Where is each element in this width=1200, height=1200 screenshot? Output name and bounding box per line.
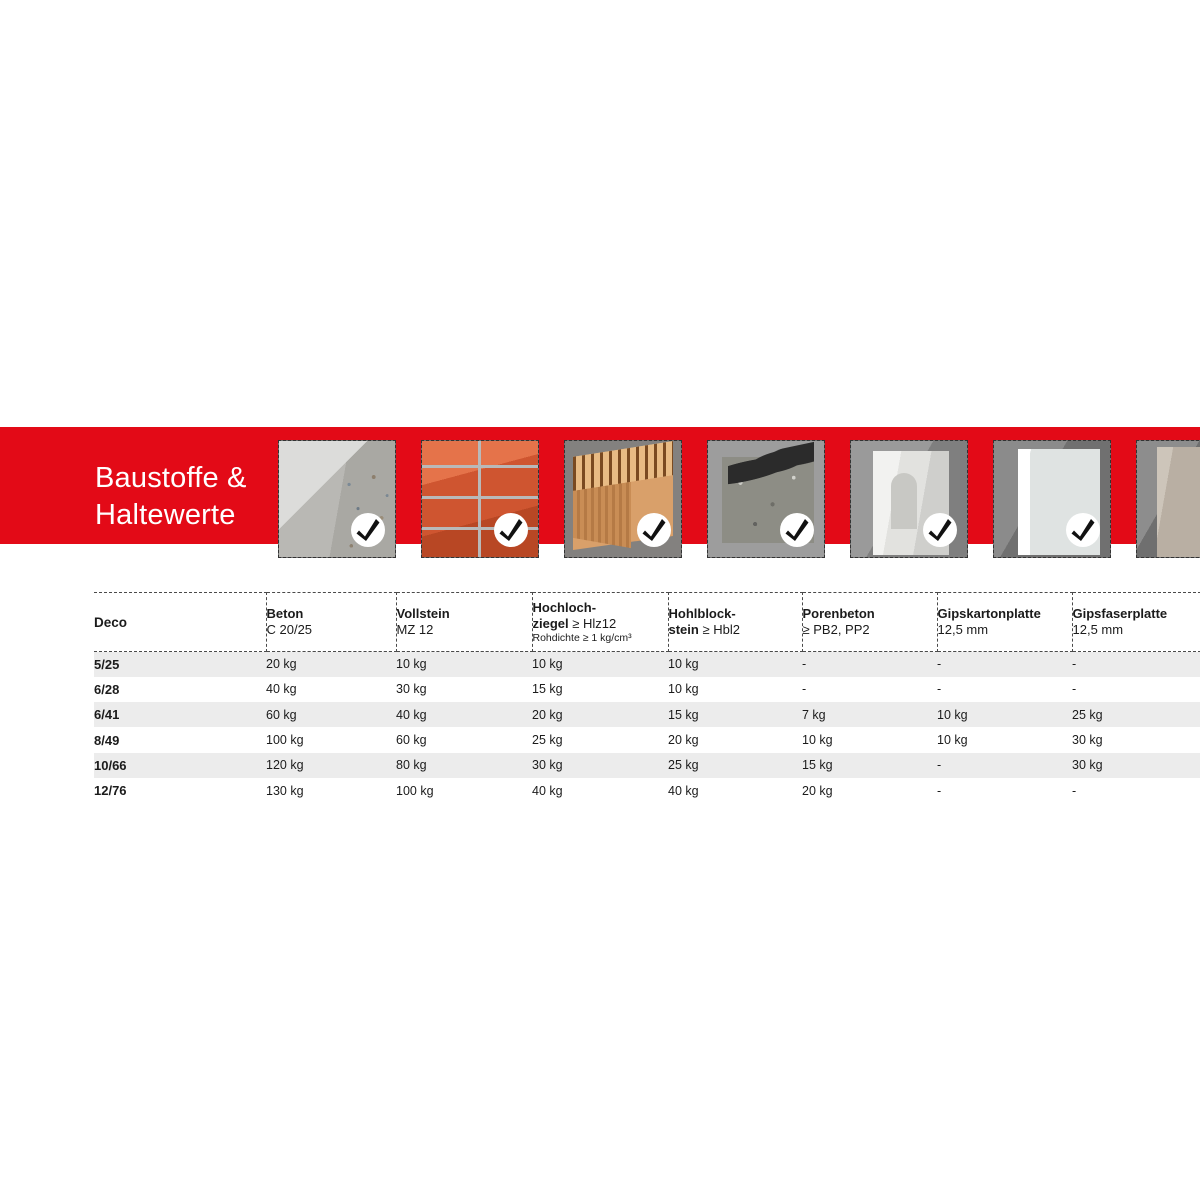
cell-porenbeton: - bbox=[802, 677, 937, 702]
header-main: Beton bbox=[267, 606, 396, 622]
cell-hbl: 10 kg bbox=[668, 652, 802, 677]
table-header-row: Deco Beton C 20/25 Vollstein MZ 12 Hochl… bbox=[94, 593, 1200, 652]
cell-beton: 20 kg bbox=[266, 652, 396, 677]
header-main: Porenbeton bbox=[803, 606, 937, 622]
column-header-beton: Beton C 20/25 bbox=[266, 593, 396, 652]
cell-gf: 30 kg bbox=[1072, 753, 1200, 778]
column-header-deco: Deco bbox=[94, 593, 266, 652]
cell-hbl: 20 kg bbox=[668, 727, 802, 752]
cell-hbl: 40 kg bbox=[668, 778, 802, 803]
cell-hbl: 10 kg bbox=[668, 677, 802, 702]
material-thumb-porenbeton bbox=[850, 440, 968, 558]
header-main: Gipsfaserplatte bbox=[1073, 606, 1200, 622]
column-header-gipsfaserplatte: Gipsfaserplatte 12,5 mm bbox=[1072, 593, 1200, 652]
header-main: Vollstein bbox=[397, 606, 532, 622]
cell-porenbeton: - bbox=[802, 652, 937, 677]
header-sub: 12,5 mm bbox=[1073, 622, 1200, 638]
cell-hbl: 25 kg bbox=[668, 753, 802, 778]
header-sub: 12,5 mm bbox=[938, 622, 1072, 638]
material-thumb-vollstein bbox=[421, 440, 539, 558]
cell-gk: 10 kg bbox=[937, 702, 1072, 727]
header-main-line2: ziegel ≥ Hlz12 bbox=[533, 616, 668, 632]
header-sub: C 20/25 bbox=[267, 622, 396, 638]
cell-vollstein: 30 kg bbox=[396, 677, 532, 702]
cell-hlz: 20 kg bbox=[532, 702, 668, 727]
cell-gk: - bbox=[937, 652, 1072, 677]
cell-gf: 30 kg bbox=[1072, 727, 1200, 752]
cell-deco-size: 6/28 bbox=[94, 677, 266, 702]
cell-beton: 100 kg bbox=[266, 727, 396, 752]
table-body: 5/2520 kg10 kg10 kg10 kg---6/2840 kg30 k… bbox=[94, 652, 1200, 804]
cell-vollstein: 100 kg bbox=[396, 778, 532, 803]
table-row: 10/66120 kg80 kg30 kg25 kg15 kg-30 kg bbox=[94, 753, 1200, 778]
cell-gk: - bbox=[937, 677, 1072, 702]
cell-gk: - bbox=[937, 753, 1072, 778]
cell-deco-size: 5/25 bbox=[94, 652, 266, 677]
table-row: 6/2840 kg30 kg15 kg10 kg--- bbox=[94, 677, 1200, 702]
cell-deco-size: 10/66 bbox=[94, 753, 266, 778]
header-main: Hohlblock- bbox=[669, 606, 802, 622]
cell-gf: - bbox=[1072, 778, 1200, 803]
header-note: Rohdichte ≥ 1 kg/cm³ bbox=[533, 632, 668, 645]
cell-vollstein: 40 kg bbox=[396, 702, 532, 727]
check-icon bbox=[494, 513, 528, 547]
cell-deco-size: 8/49 bbox=[94, 727, 266, 752]
check-icon bbox=[780, 513, 814, 547]
header-sub: MZ 12 bbox=[397, 622, 532, 638]
check-icon bbox=[923, 513, 957, 547]
cell-vollstein: 10 kg bbox=[396, 652, 532, 677]
haltewerte-table: Deco Beton C 20/25 Vollstein MZ 12 Hochl… bbox=[94, 592, 1200, 803]
column-header-vollstein: Vollstein MZ 12 bbox=[396, 593, 532, 652]
header-main: Hochloch- bbox=[533, 600, 668, 616]
cell-gk: 10 kg bbox=[937, 727, 1072, 752]
cell-porenbeton: 10 kg bbox=[802, 727, 937, 752]
cell-vollstein: 80 kg bbox=[396, 753, 532, 778]
cell-beton: 40 kg bbox=[266, 677, 396, 702]
cell-vollstein: 60 kg bbox=[396, 727, 532, 752]
check-icon bbox=[351, 513, 385, 547]
material-thumb-gipskartonplatte bbox=[993, 440, 1111, 558]
cell-hlz: 40 kg bbox=[532, 778, 668, 803]
table-row: 8/49100 kg60 kg25 kg20 kg10 kg10 kg30 kg bbox=[94, 727, 1200, 752]
cell-beton: 130 kg bbox=[266, 778, 396, 803]
cell-deco-size: 6/41 bbox=[94, 702, 266, 727]
cell-deco-size: 12/76 bbox=[94, 778, 266, 803]
material-thumb-beton bbox=[278, 440, 396, 558]
cell-porenbeton: 15 kg bbox=[802, 753, 937, 778]
banner-section: Baustoffe & Haltewerte bbox=[0, 427, 1200, 558]
cell-hlz: 25 kg bbox=[532, 727, 668, 752]
table-row: 12/76130 kg100 kg40 kg40 kg20 kg-- bbox=[94, 778, 1200, 803]
column-header-porenbeton: Porenbeton ≥ PB2, PP2 bbox=[802, 593, 937, 652]
cell-hlz: 10 kg bbox=[532, 652, 668, 677]
table-row: 6/4160 kg40 kg20 kg15 kg7 kg10 kg25 kg bbox=[94, 702, 1200, 727]
check-icon bbox=[637, 513, 671, 547]
cell-gk: - bbox=[937, 778, 1072, 803]
check-icon bbox=[1066, 513, 1100, 547]
table-row: 5/2520 kg10 kg10 kg10 kg--- bbox=[94, 652, 1200, 677]
material-thumb-gipsfaserplatte bbox=[1136, 440, 1200, 558]
cell-hbl: 15 kg bbox=[668, 702, 802, 727]
cell-gf: - bbox=[1072, 677, 1200, 702]
cell-porenbeton: 7 kg bbox=[802, 702, 937, 727]
header-main-line2: stein ≥ Hbl2 bbox=[669, 622, 802, 638]
column-header-hohlblockstein: Hohlblock- stein ≥ Hbl2 bbox=[668, 593, 802, 652]
material-thumb-hohlblockstein bbox=[707, 440, 825, 558]
gipsfaserplatte-image bbox=[1137, 441, 1200, 557]
material-thumbnail-strip bbox=[278, 440, 1200, 558]
column-header-hochlochziegel: Hochloch- ziegel ≥ Hlz12 Rohdichte ≥ 1 k… bbox=[532, 593, 668, 652]
cell-hlz: 15 kg bbox=[532, 677, 668, 702]
cell-gf: 25 kg bbox=[1072, 702, 1200, 727]
cell-beton: 60 kg bbox=[266, 702, 396, 727]
header-main: Gipskartonplatte bbox=[938, 606, 1072, 622]
column-header-gipskartonplatte: Gipskartonplatte 12,5 mm bbox=[937, 593, 1072, 652]
cell-porenbeton: 20 kg bbox=[802, 778, 937, 803]
header-sub: ≥ PB2, PP2 bbox=[803, 622, 937, 638]
cell-beton: 120 kg bbox=[266, 753, 396, 778]
cell-hlz: 30 kg bbox=[532, 753, 668, 778]
material-thumb-hochlochziegel bbox=[564, 440, 682, 558]
cell-gf: - bbox=[1072, 652, 1200, 677]
